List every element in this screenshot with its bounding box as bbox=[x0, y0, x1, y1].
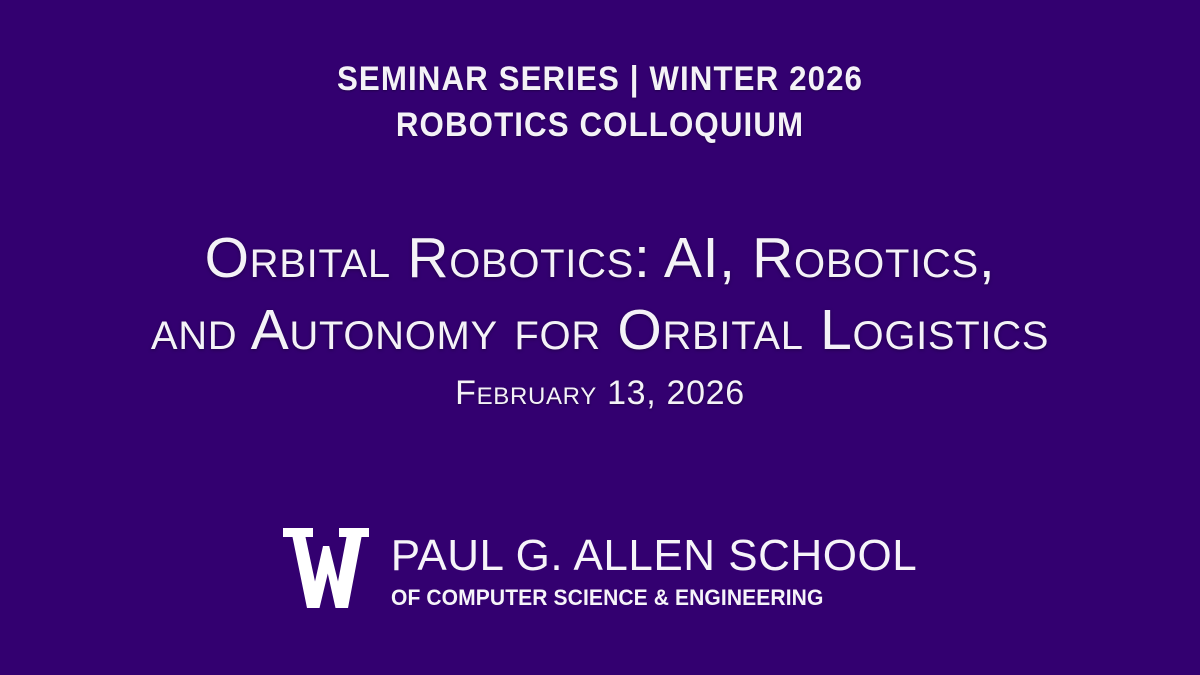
allen-school-subtitle: OF COMPUTER SCIENCE & ENGINEERING bbox=[391, 584, 883, 612]
seminar-title-slide: SEMINAR SERIES | WINTER 2026 ROBOTICS CO… bbox=[0, 0, 1200, 675]
uw-w-block-letter-icon bbox=[283, 528, 369, 608]
seminar-series-line: SEMINAR SERIES | WINTER 2026 bbox=[48, 56, 1152, 102]
talk-title: Orbital Robotics: AI, Robotics, and Auto… bbox=[0, 222, 1200, 366]
talk-title-line-2: and Autonomy for Orbital Logistics bbox=[0, 294, 1200, 366]
talk-date: February 13, 2026 bbox=[0, 372, 1200, 414]
seminar-header: SEMINAR SERIES | WINTER 2026 ROBOTICS CO… bbox=[0, 56, 1200, 148]
colloquium-name-line: ROBOTICS COLLOQUIUM bbox=[48, 102, 1152, 148]
allen-school-logo: PAUL G. ALLEN SCHOOL OF COMPUTER SCIENCE… bbox=[0, 528, 1200, 620]
talk-title-line-1: Orbital Robotics: AI, Robotics, bbox=[0, 222, 1200, 294]
allen-school-name: PAUL G. ALLEN SCHOOL bbox=[391, 532, 918, 580]
